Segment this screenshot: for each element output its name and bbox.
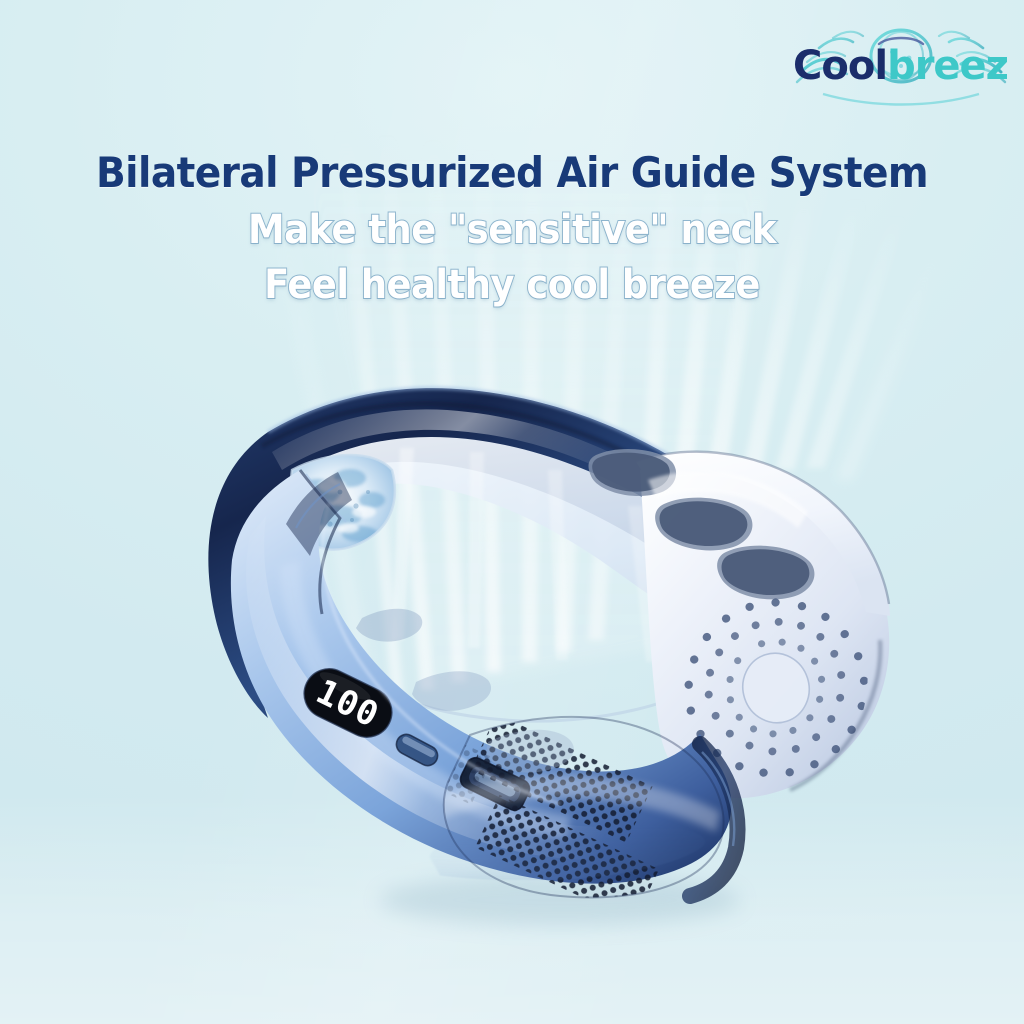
logo-word-breez: breez	[887, 43, 1008, 89]
brand-logo: Coolbreez	[793, 22, 1008, 106]
product-reflection	[300, 813, 770, 881]
subheadline-line-1: Make the "sensitive" neck	[41, 207, 983, 253]
logo-word-cool: Cool	[793, 43, 887, 89]
ad-canvas: 100	[0, 0, 1024, 1024]
logo-wordmark: Coolbreez	[793, 46, 1008, 86]
headline-title: Bilateral Pressurized Air Guide System	[36, 148, 988, 197]
subheadline-line-2: Feel healthy cool breeze	[41, 262, 983, 308]
